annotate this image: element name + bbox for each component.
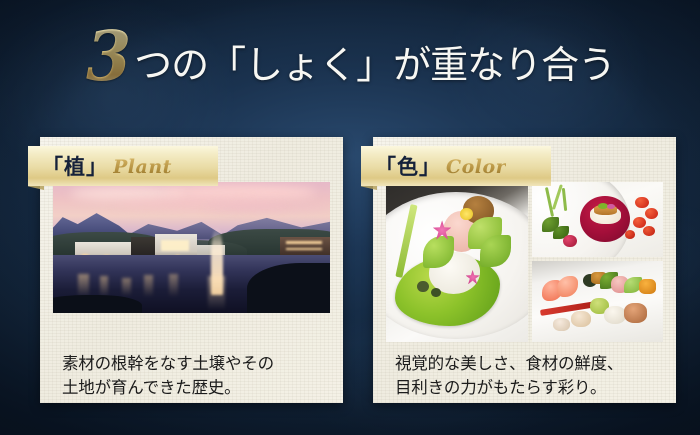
caption-line: 目利きの力がもたらす彩り。 (395, 376, 662, 400)
ribbon-banner-color: 「色」 Color (361, 146, 551, 186)
food-garnish (639, 279, 656, 294)
page-title: 3 つの「しょく」が重なり合う (0, 24, 700, 98)
mushroom (624, 303, 648, 322)
card-caption-color: 視覚的な美しさ、食材の鮮度、 目利きの力がもたらす彩り。 (395, 352, 662, 400)
light-reflection (169, 274, 177, 298)
radish-garnish (563, 235, 576, 247)
tomato (645, 208, 658, 219)
herb-garnish (417, 281, 428, 292)
headline-text: つの「しょく」が重なり合う (134, 34, 615, 89)
headline-number: 3 (86, 23, 131, 91)
light-reflection (122, 278, 130, 296)
photo-food-beet (532, 182, 663, 257)
tomato (635, 197, 648, 208)
card-caption-plant: 素材の根幹をなす土壌やその 土地が育んできた歴史。 (62, 352, 329, 400)
photo-food-platter (532, 261, 663, 342)
food-plate-illustration (386, 182, 528, 342)
window-glow (161, 240, 189, 252)
poster-canvas: 3 つの「しょく」が重なり合う 「植」 Plant (0, 0, 700, 435)
ribbon-kanji-label: 「色」 (375, 156, 441, 177)
window-glow (286, 241, 322, 244)
landscape-illustration (53, 182, 330, 313)
ribbon-english-label: Color (446, 156, 506, 178)
edible-flower (460, 208, 473, 221)
photo-food-main (386, 182, 528, 342)
cloud-shape (205, 203, 330, 212)
food-plate-illustration (532, 261, 663, 342)
ribbon-banner-plant: 「植」 Plant (28, 146, 218, 186)
scallop (571, 311, 591, 327)
tomato (633, 217, 646, 228)
foreground-trees (247, 263, 330, 313)
card-plant[interactable]: 「植」 Plant (40, 137, 343, 403)
caption-line: 土地が育んできた歴史。 (62, 376, 329, 400)
tomato (625, 230, 635, 239)
tomato (643, 226, 655, 237)
scallop (553, 318, 570, 331)
caption-line: 視覚的な美しさ、食材の鮮度、 (395, 352, 662, 376)
card-color[interactable]: 「色」 Color (373, 137, 676, 403)
ribbon-english-label: Plant (113, 156, 172, 178)
window-glow (286, 248, 322, 251)
light-reflection (144, 275, 152, 297)
edible-flower (607, 204, 615, 209)
fish-slice (604, 306, 626, 324)
fountain-reflection (208, 276, 225, 310)
caption-line: 素材の根幹をなす土壌やその (62, 352, 329, 376)
photo-plant-landscape (53, 182, 330, 313)
shrimp (557, 276, 578, 297)
foreground-trees (53, 295, 142, 313)
cloud-shape (164, 185, 316, 201)
food-plate-illustration (532, 182, 663, 257)
light-reflection (78, 274, 89, 298)
ribbon-kanji-label: 「植」 (42, 156, 108, 177)
